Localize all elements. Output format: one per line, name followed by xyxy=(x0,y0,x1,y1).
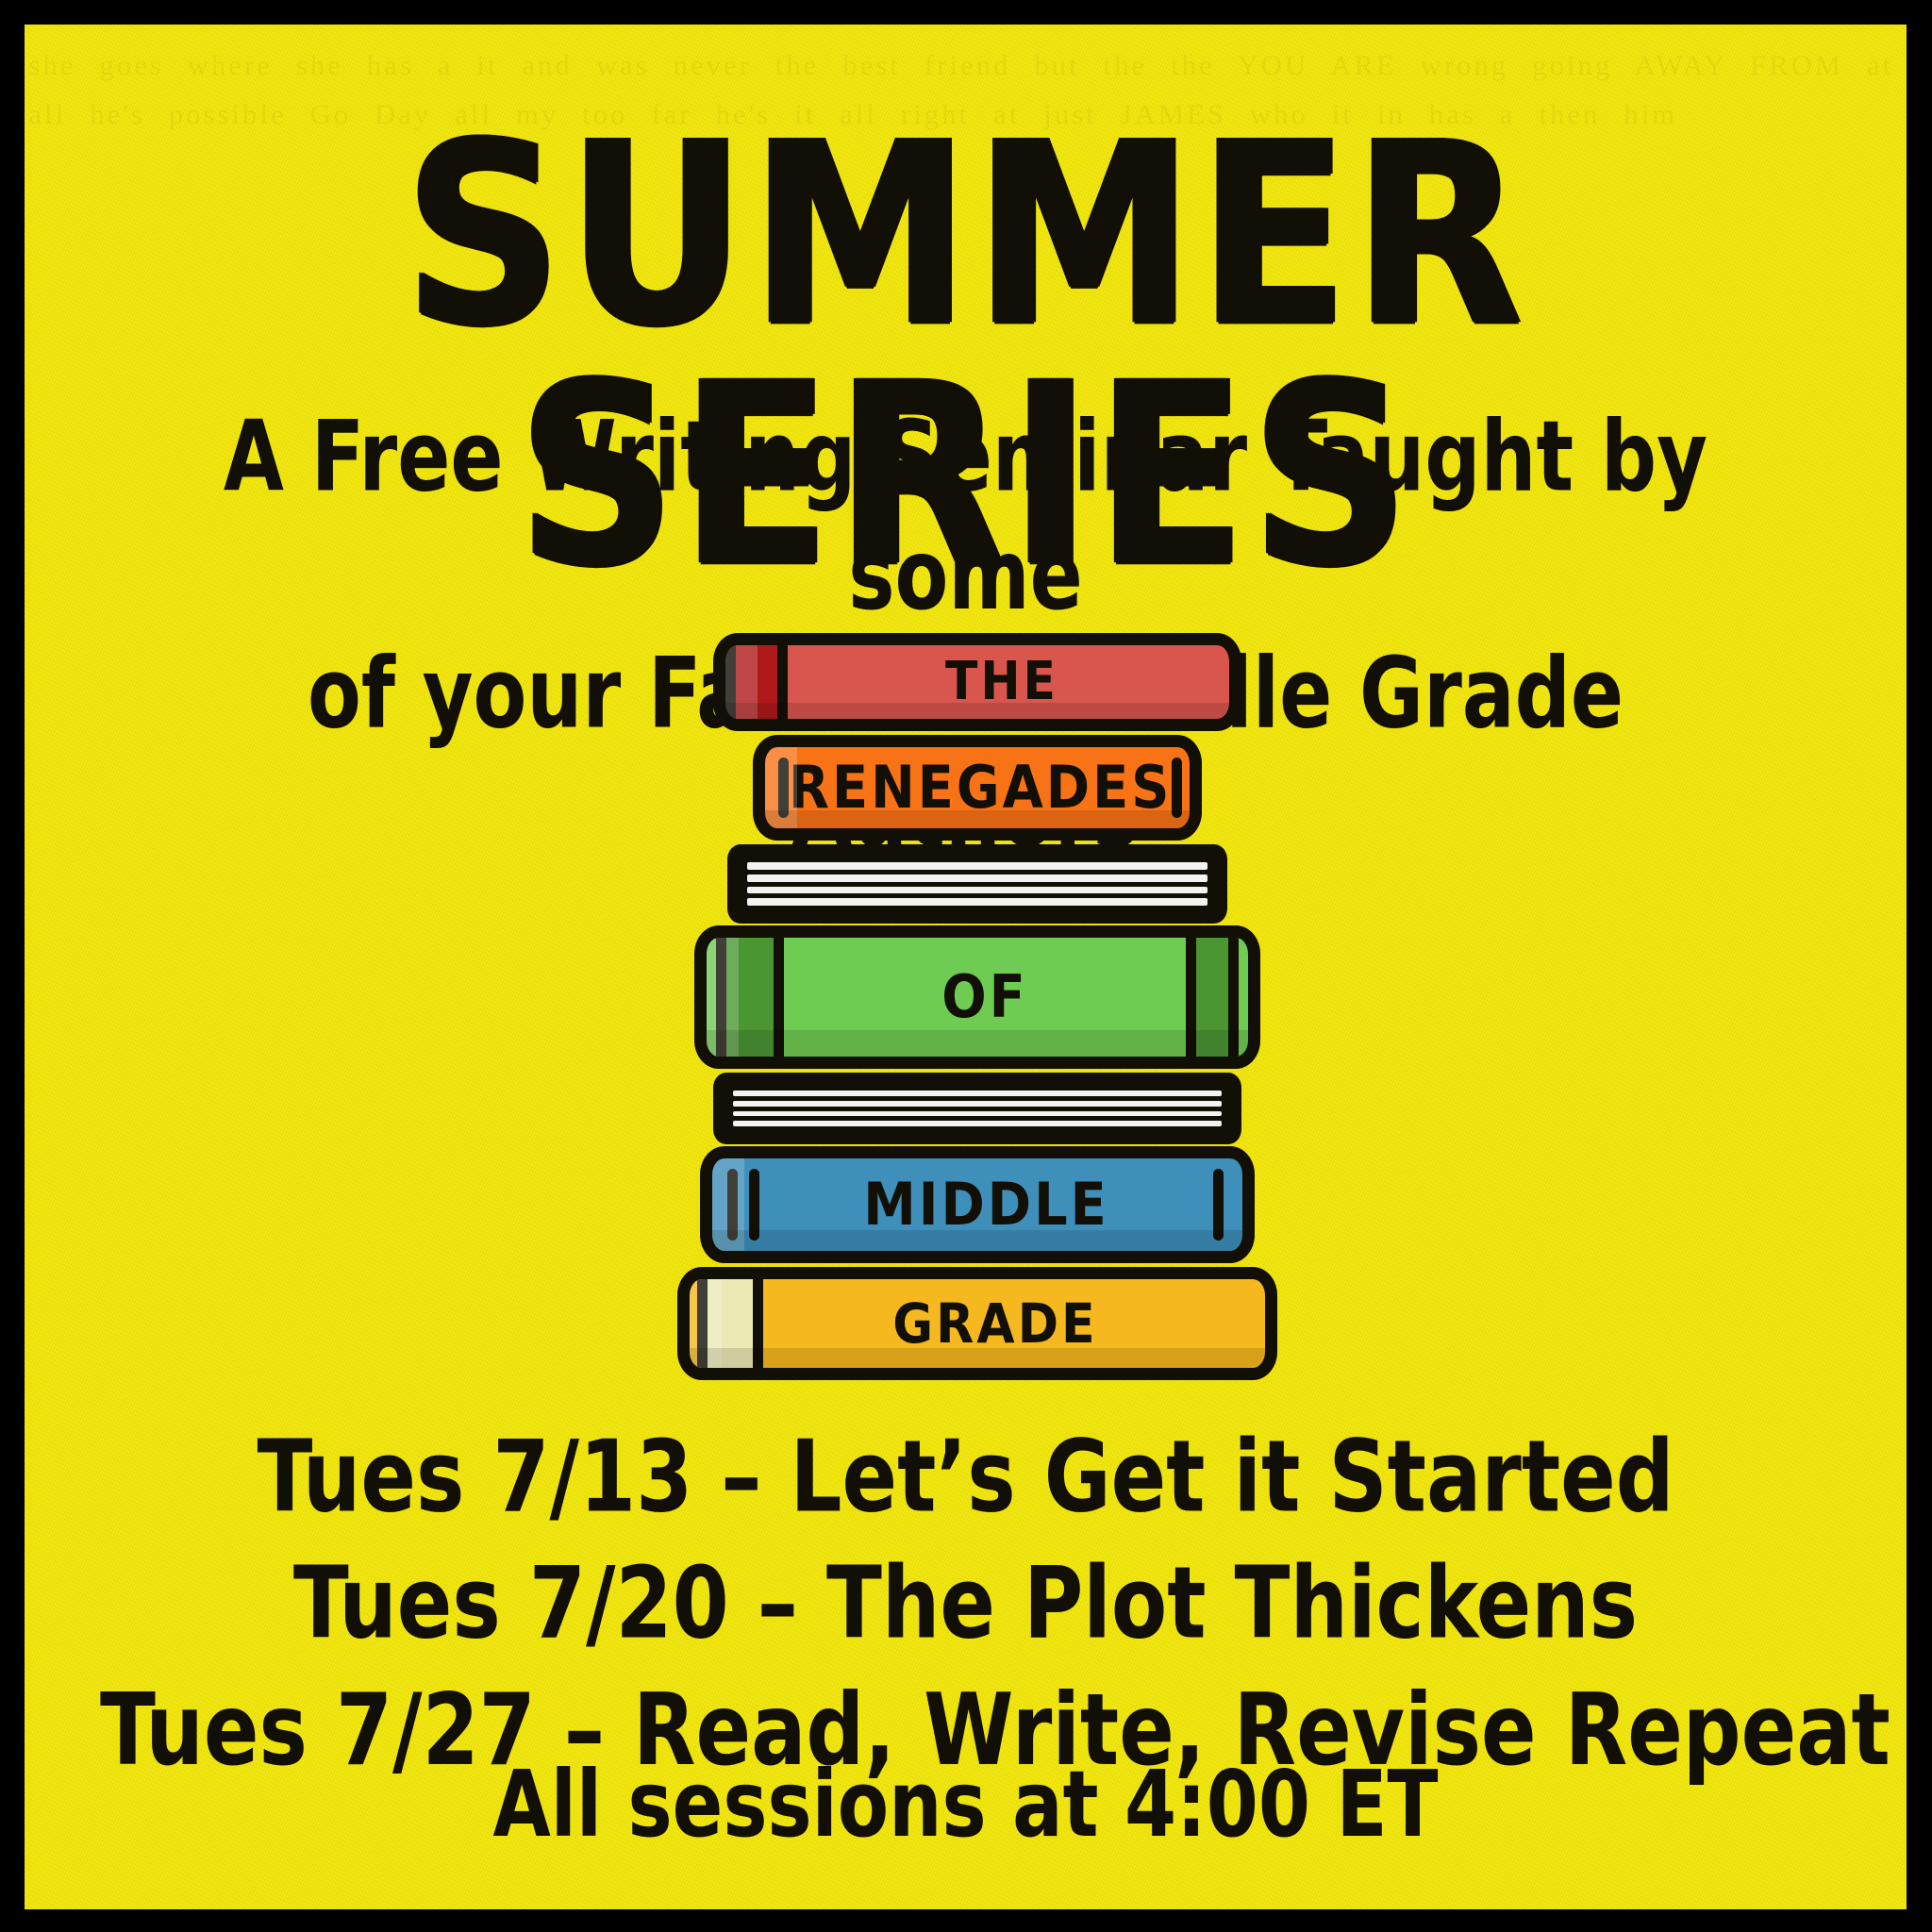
page-sheet xyxy=(747,898,1207,906)
page-sheet xyxy=(747,862,1207,870)
book-spine-grade: GRADE xyxy=(677,1267,1277,1380)
spine-rule xyxy=(749,1169,759,1241)
session-row: Tues 7/13 – Let’s Get it Started xyxy=(100,1413,1831,1540)
spine-rule xyxy=(1213,1169,1224,1241)
spine-band xyxy=(1186,938,1239,1057)
book-spine-label: THE xyxy=(788,656,1216,708)
book-spine-the: THE xyxy=(713,633,1241,731)
page-sheet xyxy=(733,1101,1222,1107)
book-stack-illustration: THE RENEGADES xyxy=(675,633,1279,1322)
subtitle-line-1: A Free Writing Seminar Taught by some xyxy=(224,400,1707,631)
book-spine-label: MIDDLE xyxy=(759,1175,1213,1234)
page-sheet xyxy=(733,1111,1222,1117)
session-row: Tues 7/20 – The Plot Thickens xyxy=(100,1540,1831,1666)
book-spine-label: GRADE xyxy=(763,1296,1227,1351)
schedule-footnote: All sessions at 4:00 ET xyxy=(25,1751,1907,1858)
page-sheet xyxy=(733,1091,1222,1096)
page-sheet xyxy=(733,1121,1222,1126)
spine-band xyxy=(716,938,784,1057)
session-schedule: Tues 7/13 – Let’s Get it Started Tues 7/… xyxy=(25,1413,1907,1793)
book-spine-of: OF xyxy=(694,925,1260,1069)
poster-canvas: she goes where she has a it and was neve… xyxy=(25,25,1907,1909)
book-spine-label: OF xyxy=(784,968,1186,1026)
book-spine-renegades: RENEGADES xyxy=(753,735,1202,841)
spine-band xyxy=(697,1279,763,1368)
poster-frame: she goes where she has a it and was neve… xyxy=(0,0,1932,1932)
page-sheet xyxy=(747,874,1207,882)
page-sheet xyxy=(747,887,1207,894)
book-spine-middle: MIDDLE xyxy=(700,1146,1255,1263)
book-page-block xyxy=(713,1073,1241,1144)
spine-rule xyxy=(1172,758,1182,818)
spine-band xyxy=(725,645,788,719)
spine-rule xyxy=(727,1169,738,1241)
spine-rule xyxy=(778,758,789,818)
book-spine-label: RENEGADES xyxy=(789,758,1172,817)
spine-shade xyxy=(707,1030,1248,1057)
book-page-block xyxy=(727,844,1227,924)
